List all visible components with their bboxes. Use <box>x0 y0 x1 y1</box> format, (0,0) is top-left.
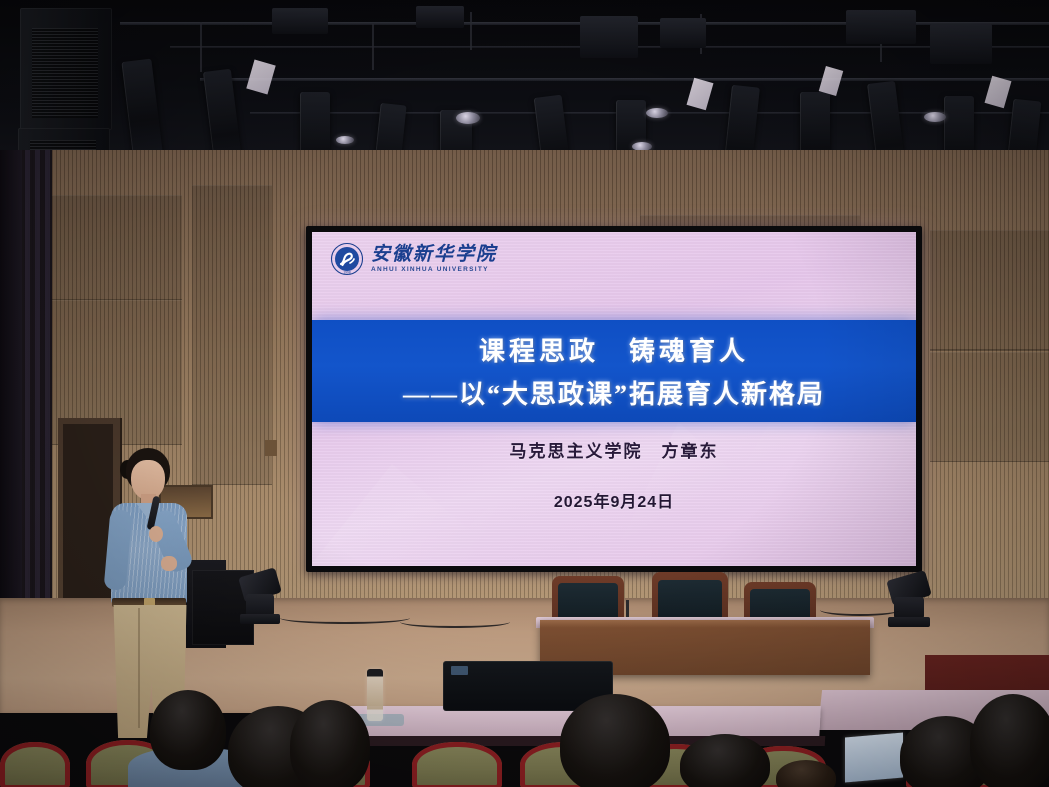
laptop-logo <box>451 666 468 675</box>
audience-seat[interactable] <box>412 742 502 787</box>
gel-frame-paper <box>819 66 843 96</box>
gel-frame-paper <box>687 78 714 110</box>
audience-head <box>680 734 770 787</box>
spotlight-lens <box>336 136 354 144</box>
led-screen[interactable]: 1998 安徽新华学院 ANHUI XINHUA UNIVERSITY 课程思政… <box>312 232 916 566</box>
audience-head <box>776 760 836 787</box>
slide-title-line-2: ——以“大思政课”拓展育人新格局 <box>403 374 825 411</box>
university-logo: 1998 安徽新华学院 ANHUI XINHUA UNIVERSITY <box>330 242 497 276</box>
gesturing-hand <box>161 556 177 571</box>
university-emblem-icon: 1998 <box>330 242 364 276</box>
trouser-pleat <box>138 608 140 728</box>
open-laptop-screen[interactable] <box>845 732 903 782</box>
spotlight-lens <box>924 112 946 122</box>
audience-head <box>560 694 670 787</box>
logo-name-cn: 安徽新华学院 <box>371 245 497 264</box>
audience-head <box>150 690 226 770</box>
slide-title-band: 课程思政 铸魂育人 ——以“大思政课”拓展育人新格局 <box>312 320 916 422</box>
slide-title-line-1: 课程思政 铸魂育人 <box>479 331 749 368</box>
audience-head <box>970 694 1049 787</box>
audience-seat[interactable] <box>0 742 70 787</box>
auditorium-photo: 1998 安徽新华学院 ANHUI XINHUA UNIVERSITY 课程思政… <box>0 0 1049 787</box>
slide-date-line: 2025年9月24日 <box>554 488 674 512</box>
moving-head-light-right <box>888 563 930 627</box>
spotlight-lens <box>646 108 668 118</box>
hand-holding-mic <box>149 526 163 542</box>
gel-frame-paper <box>246 60 275 95</box>
wall-switch[interactable] <box>265 440 277 456</box>
slide-footer: 马克思主义学院 方章东 2025年9月24日 <box>312 437 916 512</box>
water-bottle[interactable] <box>367 669 383 721</box>
moving-head-light-left <box>240 562 280 624</box>
svg-text:1998: 1998 <box>343 270 351 274</box>
spotlight-lens <box>456 112 480 124</box>
slide-presenter-line: 马克思主义学院 方章东 <box>510 437 719 462</box>
audience-head <box>290 700 370 787</box>
logo-name-en: ANHUI XINHUA UNIVERSITY <box>371 267 497 274</box>
